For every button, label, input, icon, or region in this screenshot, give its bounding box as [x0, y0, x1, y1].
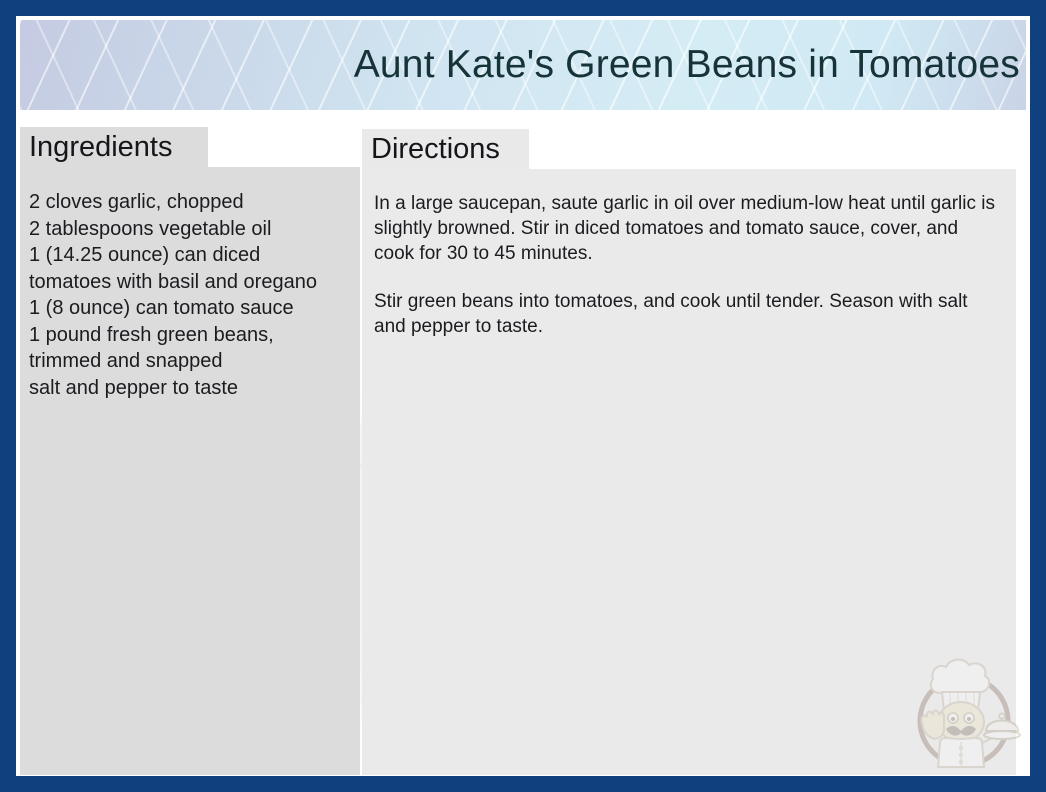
- direction-step: In a large saucepan, saute garlic in oil…: [374, 191, 1000, 266]
- title-banner: Aunt Kate's Green Beans in Tomatoes: [20, 20, 1026, 110]
- ingredients-tab: Ingredients: [20, 127, 208, 167]
- list-item: 1 (14.25 ounce) can diced tomatoes with …: [29, 242, 346, 295]
- directions-tab: Directions: [362, 129, 529, 169]
- recipe-card-page: Aunt Kate's Green Beans in Tomatoes Ingr…: [0, 0, 1046, 792]
- page-title: Aunt Kate's Green Beans in Tomatoes: [354, 43, 1026, 87]
- list-item: 1 (8 ounce) can tomato sauce: [29, 295, 346, 322]
- ingredients-heading: Ingredients: [29, 131, 173, 164]
- recipe-card-inner: Aunt Kate's Green Beans in Tomatoes Ingr…: [16, 16, 1030, 776]
- ingredient-list: 2 cloves garlic, chopped 2 tablespoons v…: [29, 189, 346, 401]
- list-item: salt and pepper to taste: [29, 375, 346, 402]
- chef-logo: [906, 647, 1022, 773]
- list-item: 2 cloves garlic, chopped: [29, 189, 346, 216]
- direction-step: Stir green beans into tomatoes, and cook…: [374, 289, 1000, 339]
- list-item: 2 tablespoons vegetable oil: [29, 216, 346, 243]
- list-item: 1 pound fresh green beans, trimmed and s…: [29, 322, 346, 375]
- ingredients-panel: Ingredients 2 cloves garlic, chopped 2 t…: [20, 127, 360, 775]
- ingredients-body: 2 cloves garlic, chopped 2 tablespoons v…: [20, 167, 360, 775]
- directions-heading: Directions: [371, 133, 500, 166]
